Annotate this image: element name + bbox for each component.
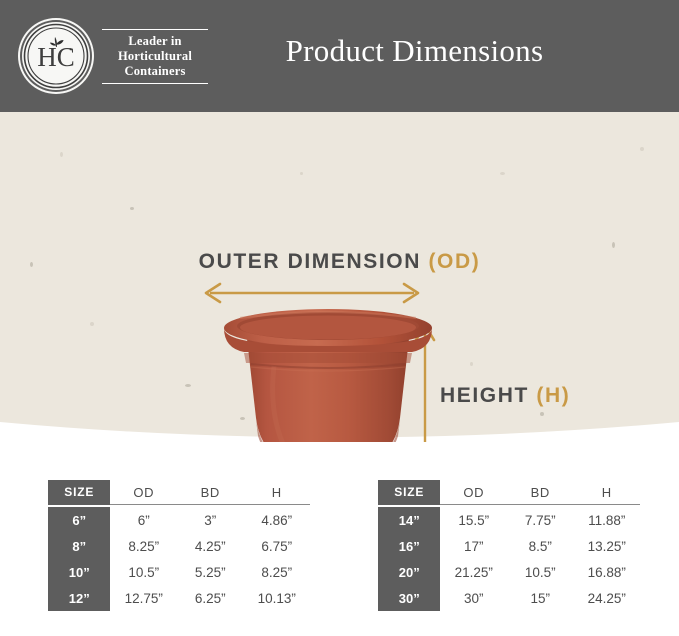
cell-size: 14” bbox=[378, 507, 440, 533]
column-header-bd: BD bbox=[177, 480, 244, 505]
header-bar: HC Leader in Horticultural Containers Pr… bbox=[0, 0, 679, 112]
texture-speck bbox=[640, 147, 644, 151]
cell-h: 10.13” bbox=[243, 585, 310, 611]
cell-bd: 15” bbox=[507, 585, 574, 611]
cell-h: 6.75” bbox=[243, 533, 310, 559]
texture-speck bbox=[130, 207, 134, 210]
cell-bd: 3” bbox=[177, 507, 244, 533]
texture-speck bbox=[185, 384, 191, 387]
table-row: 12” 12.75” 6.25” 10.13” bbox=[48, 585, 310, 611]
size-table-left-grid: SIZE OD BD H 6” 6” 3” 4.86” 8” 8.25” bbox=[48, 480, 310, 611]
cell-size: 10” bbox=[48, 559, 110, 585]
texture-speck bbox=[300, 172, 303, 175]
column-header-od: OD bbox=[110, 480, 177, 505]
table-row: 6” 6” 3” 4.86” bbox=[48, 507, 310, 533]
cell-h: 4.86” bbox=[243, 507, 310, 533]
table-row: 8” 8.25” 4.25” 6.75” bbox=[48, 533, 310, 559]
outer-dimension-text: OUTER DIMENSION bbox=[199, 250, 429, 273]
column-header-h: H bbox=[573, 480, 640, 505]
table-row: 10” 10.5” 5.25” 8.25” bbox=[48, 559, 310, 585]
outer-dimension-code: (OD) bbox=[428, 250, 480, 273]
column-header-h: H bbox=[243, 480, 310, 505]
cell-od: 12.75” bbox=[110, 585, 177, 611]
cell-od: 10.5” bbox=[110, 559, 177, 585]
height-text: HEIGHT bbox=[440, 384, 536, 407]
column-header-bd: BD bbox=[507, 480, 574, 505]
size-table-left: SIZE OD BD H 6” 6” 3” 4.86” 8” 8.25” bbox=[48, 480, 310, 611]
texture-speck bbox=[540, 412, 544, 416]
cell-bd: 5.25” bbox=[177, 559, 244, 585]
cell-od: 6” bbox=[110, 507, 177, 533]
cell-od: 15.5” bbox=[440, 507, 507, 533]
page-title: Product Dimensions bbox=[0, 33, 679, 69]
table-header-row: SIZE OD BD H bbox=[378, 480, 640, 505]
table-row: 20” 21.25” 10.5” 16.88” bbox=[378, 559, 640, 585]
column-header-size: SIZE bbox=[378, 480, 440, 505]
cell-size: 16” bbox=[378, 533, 440, 559]
cell-bd: 6.25” bbox=[177, 585, 244, 611]
texture-speck bbox=[500, 172, 505, 175]
cell-size: 6” bbox=[48, 507, 110, 533]
cell-size: 12” bbox=[48, 585, 110, 611]
height-code: (H) bbox=[536, 384, 570, 407]
cell-h: 16.88” bbox=[573, 559, 640, 585]
table-row: 16” 17” 8.5” 13.25” bbox=[378, 533, 640, 559]
cell-size: 20” bbox=[378, 559, 440, 585]
planter-pot-illustration bbox=[222, 308, 434, 442]
height-label: HEIGHT (H) bbox=[440, 384, 570, 408]
cell-h: 8.25” bbox=[243, 559, 310, 585]
cell-size: 8” bbox=[48, 533, 110, 559]
cell-h: 24.25” bbox=[573, 585, 640, 611]
cell-h: 13.25” bbox=[573, 533, 640, 559]
cell-od: 8.25” bbox=[110, 533, 177, 559]
column-header-size: SIZE bbox=[48, 480, 110, 505]
cell-bd: 10.5” bbox=[507, 559, 574, 585]
table-header-row: SIZE OD BD H bbox=[48, 480, 310, 505]
size-table-right: SIZE OD BD H 14” 15.5” 7.75” 11.88” 16” bbox=[378, 480, 640, 611]
table-row: 14” 15.5” 7.75” 11.88” bbox=[378, 507, 640, 533]
cell-od: 30” bbox=[440, 585, 507, 611]
cell-od: 21.25” bbox=[440, 559, 507, 585]
column-header-od: OD bbox=[440, 480, 507, 505]
cell-bd: 4.25” bbox=[177, 533, 244, 559]
cell-size: 30” bbox=[378, 585, 440, 611]
texture-speck bbox=[470, 362, 473, 366]
cell-bd: 8.5” bbox=[507, 533, 574, 559]
texture-speck bbox=[60, 152, 63, 157]
texture-speck bbox=[90, 322, 94, 326]
table-row: 30” 30” 15” 24.25” bbox=[378, 585, 640, 611]
texture-speck bbox=[612, 242, 615, 248]
size-table-right-grid: SIZE OD BD H 14” 15.5” 7.75” 11.88” 16” bbox=[378, 480, 640, 611]
outer-dimension-arrow-icon bbox=[198, 280, 426, 306]
dimension-diagram: OUTER DIMENSION (OD) HEIGHT (H) bbox=[0, 112, 679, 442]
cell-od: 17” bbox=[440, 533, 507, 559]
cell-bd: 7.75” bbox=[507, 507, 574, 533]
outer-dimension-label: OUTER DIMENSION (OD) bbox=[0, 250, 679, 274]
cell-h: 11.88” bbox=[573, 507, 640, 533]
